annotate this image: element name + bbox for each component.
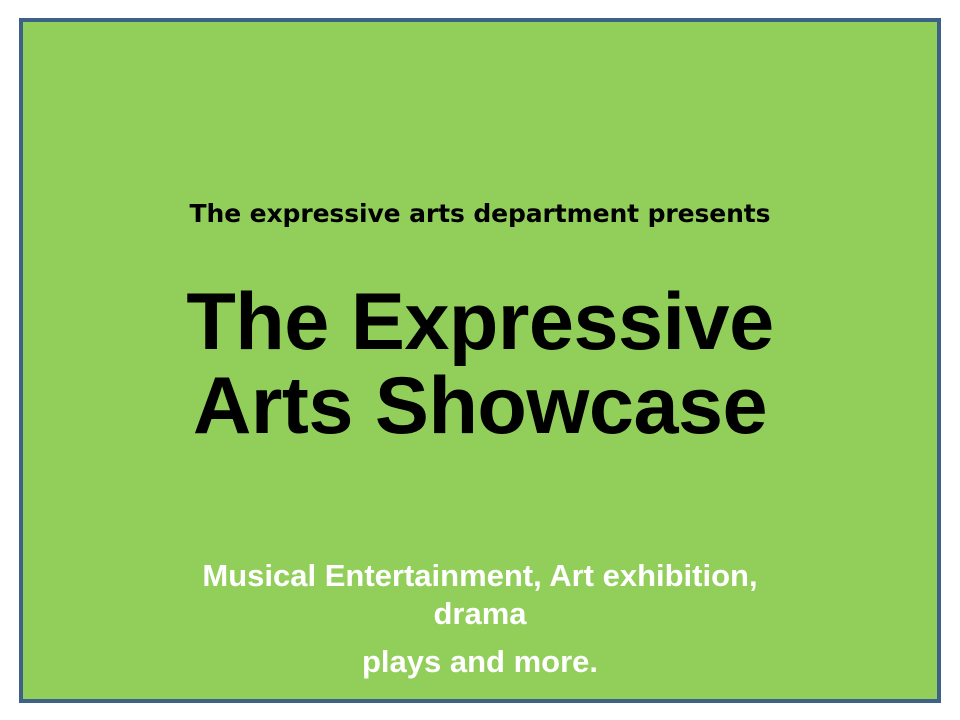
headline-line-2: Arts Showcase [23,364,937,448]
slide-frame: The expressive arts department presents … [19,18,941,703]
slide-canvas: The expressive arts department presents … [0,0,960,720]
presenter-line: The expressive arts department presents [23,199,937,229]
headline-line-1: The Expressive [23,280,937,364]
descriptor-line-2: drama [23,595,937,633]
slide-content: The expressive arts department presents … [23,22,937,699]
descriptor-block: Musical Entertainment, Art exhibition, d… [23,557,937,681]
descriptor-line-3: plays and more. [23,643,937,681]
descriptor-line-1: Musical Entertainment, Art exhibition, [23,557,937,595]
page-title: The Expressive Arts Showcase [23,280,937,448]
